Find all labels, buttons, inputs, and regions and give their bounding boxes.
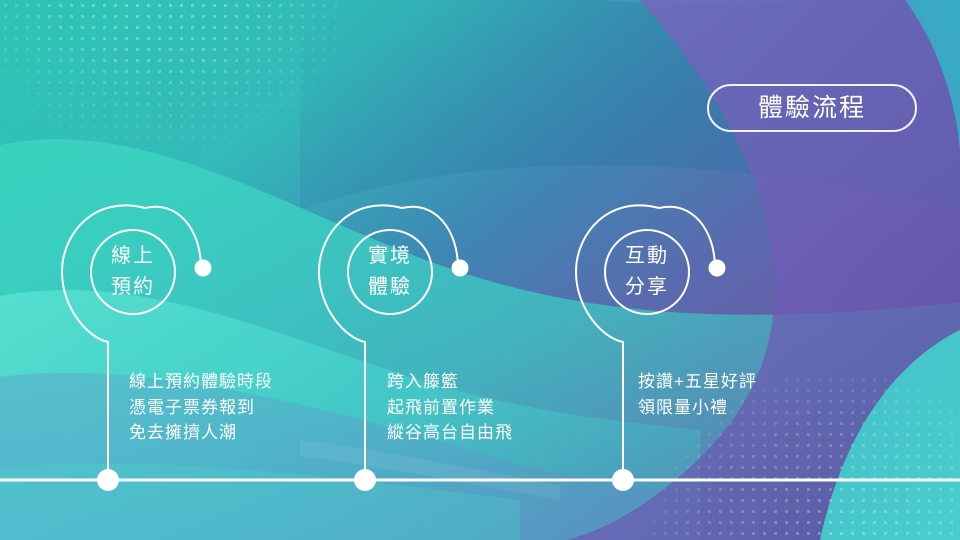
step-1-circle-label: 線上 預約: [73, 241, 193, 303]
text-layer: 體驗流程 線上 預約 實境 體驗 互動 分享 線上預約體驗時段 憑電子票券報到 …: [0, 0, 960, 540]
step-2-description: 跨入籐籃 起飛前置作業 縱谷高台自由飛: [387, 369, 513, 446]
step-2-circle-label: 實境 體驗: [330, 241, 450, 303]
step-1-description: 線上預約體驗時段 憑電子票券報到 免去擁擠人潮: [129, 369, 273, 446]
step-3-description: 按讚+五星好評 領限量小禮: [638, 369, 757, 420]
title-badge[interactable]: 體驗流程: [707, 84, 917, 132]
title-badge-label: 體驗流程: [758, 96, 866, 121]
step-3-circle-label: 互動 分享: [587, 241, 707, 303]
slide-canvas: 體驗流程 線上 預約 實境 體驗 互動 分享 線上預約體驗時段 憑電子票券報到 …: [0, 0, 960, 540]
